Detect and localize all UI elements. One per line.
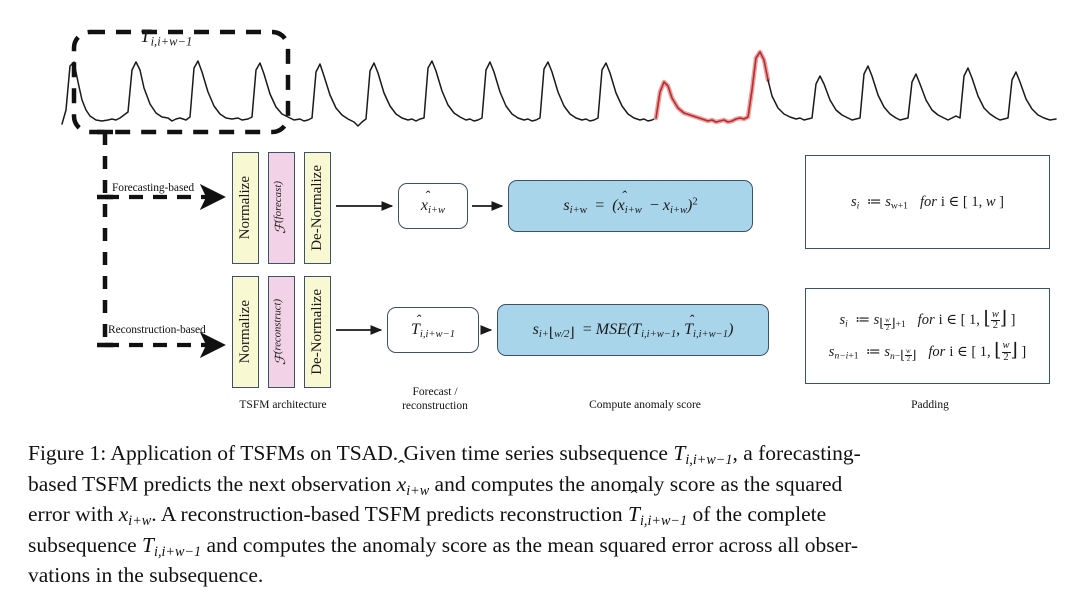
stage-normalize-forecasting-label: Normalize (238, 176, 253, 239)
stage-model-reconstruction[interactable]: ℱ(reconstruct) (268, 276, 295, 388)
stage-denormalize-reconstruction[interactable]: De-Normalize (304, 276, 331, 388)
padding-formula-reconstruction-group: si ≔ s⌊w2⌋+1fori ∈ [ 1, ⌊w2⌋ ] sn−i+1 ≔ … (829, 308, 1026, 363)
timeseries-normal-line (62, 61, 656, 126)
branch-label-forecasting: Forecasting-based (112, 182, 194, 194)
section-caption-compute-anomaly-score: Compute anomaly score (555, 398, 735, 412)
stage-model-reconstruction-label: ℱ(reconstruct) (275, 299, 289, 365)
anomaly-score-box-reconstruction: si+⌊w/2⌋ = MSE(Ti,i+w−1, ̂Ti,i+w−1) (497, 304, 769, 356)
stage-normalize-forecasting[interactable]: Normalize (232, 152, 259, 264)
padding-box-reconstruction: si ≔ s⌊w2⌋+1fori ∈ [ 1, ⌊w2⌋ ] sn−i+1 ≔ … (805, 288, 1050, 384)
section-caption-padding: Padding (865, 398, 995, 412)
anomaly-score-formula-forecasting: si+w = (̂xi+w − xi+w)2 (563, 197, 697, 215)
padding-formula-reconstruction-1: si ≔ s⌊w2⌋+1fori ∈ [ 1, ⌊w2⌋ ] (839, 308, 1015, 332)
forecast-output-box: ̂xi+w (398, 183, 468, 229)
figure-caption: Figure 1: Application of TSFMs on TSAD. … (28, 438, 1052, 591)
figure-container: Ti,i+w−1 Forecasting-based Reconstructio… (0, 0, 1080, 599)
anomaly-score-box-forecasting: si+w = (̂xi+w − xi+w)2 (508, 180, 753, 232)
branch-label-reconstruction: Reconstruction-based (108, 324, 206, 336)
stage-denormalize-forecasting-label: De-Normalize (310, 165, 325, 251)
stage-model-forecasting-label: ℱ(forecast) (275, 181, 289, 234)
stage-normalize-reconstruction-label: Normalize (238, 300, 253, 363)
figure-caption-line-2: based TSFM predicts the next observation… (28, 469, 1052, 500)
stage-denormalize-reconstruction-label: De-Normalize (310, 289, 325, 375)
subsequence-window-label: Ti,i+w−1 (140, 26, 192, 48)
diagram-panel: Ti,i+w−1 Forecasting-based Reconstructio… (0, 0, 1080, 425)
figure-caption-line-1: Figure 1: Application of TSFMs on TSAD. … (28, 438, 1052, 469)
figure-caption-line-5: vations in the subsequence. (28, 560, 1052, 591)
reconstruction-output-formula: ̂Ti,i+w−1 (411, 321, 455, 339)
reconstruction-output-box: ̂Ti,i+w−1 (387, 307, 479, 353)
stage-model-forecasting[interactable]: ℱ(forecast) (268, 152, 295, 264)
section-caption-forecast-reconstruction: Forecast / reconstruction (370, 385, 500, 414)
figure-caption-line-4: subsequence Ti,i+w−1 and computes the an… (28, 530, 1052, 561)
anomaly-score-formula-reconstruction: si+⌊w/2⌋ = MSE(Ti,i+w−1, ̂Ti,i+w−1) (533, 321, 734, 339)
padding-box-forecasting: si ≔ sw+1fori ∈ [ 1, w ] (805, 155, 1050, 249)
forecast-output-formula: ̂xi+w (421, 197, 445, 215)
timeseries-plot (62, 52, 1056, 126)
padding-formula-reconstruction-2: sn−i+1 ≔ sn−⌊w2⌋fori ∈ [ 1, ⌊w2⌋ ] (829, 340, 1026, 364)
padding-formula-forecasting: si ≔ sw+1fori ∈ [ 1, w ] (851, 194, 1004, 211)
figure-caption-line-3: error with xi+w. A reconstruction-based … (28, 499, 1052, 530)
timeseries-anomaly-highlight (656, 52, 768, 122)
timeseries-normal-line-tail (768, 66, 1056, 120)
section-caption-tsfm-architecture: TSFM architecture (213, 398, 353, 412)
branch-routing (97, 132, 222, 345)
stage-denormalize-forecasting[interactable]: De-Normalize (304, 152, 331, 264)
stage-normalize-reconstruction[interactable]: Normalize (232, 276, 259, 388)
